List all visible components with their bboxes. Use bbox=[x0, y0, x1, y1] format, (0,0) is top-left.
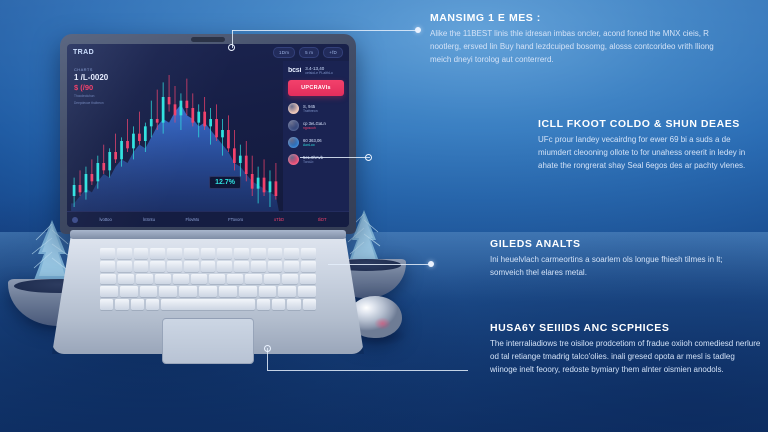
app-footer: lvottoolnSntuFlovMoFTovorooTbDtliDT bbox=[67, 211, 349, 227]
laptop-keyboard[interactable] bbox=[100, 248, 316, 310]
keyboard-key[interactable] bbox=[117, 248, 132, 259]
keyboard-key[interactable] bbox=[179, 286, 197, 297]
stat-note-2: Deepdeoce tholtreon bbox=[74, 101, 108, 106]
footer-menu-item[interactable]: FTovoro bbox=[214, 217, 257, 222]
keyboard-key[interactable] bbox=[209, 274, 225, 285]
timeframe-pill-3[interactable]: +fD bbox=[323, 47, 343, 58]
keyboard-key[interactable] bbox=[134, 248, 149, 259]
candle-body bbox=[203, 112, 206, 127]
keyboard-key[interactable] bbox=[234, 248, 249, 259]
keyboard-key[interactable] bbox=[284, 248, 299, 259]
candle-body bbox=[162, 97, 165, 123]
upgrade-button[interactable]: UPCRAVIs bbox=[288, 80, 344, 96]
app-sidebar: bcsi 3.4-13,40 celsioLe PLalthLo UPCRAVI… bbox=[283, 61, 349, 211]
candle-body bbox=[197, 112, 200, 123]
candle-body bbox=[79, 185, 82, 192]
keyboard-key[interactable] bbox=[136, 274, 152, 285]
laptop-lid: TRAD 1Dm 5 m +fD bbox=[60, 34, 356, 234]
keyboard-key[interactable] bbox=[100, 299, 113, 310]
app-body: CHARTS 1 /L-0020 $ (/90 Thoodeoluhun Dee… bbox=[67, 61, 349, 211]
keyboard-key[interactable] bbox=[227, 274, 243, 285]
keyboard-key[interactable] bbox=[278, 286, 296, 297]
laptop-screen: TRAD 1Dm 5 m +fD bbox=[67, 44, 349, 227]
keyboard-key[interactable] bbox=[140, 286, 158, 297]
callout-title-4: HUSA6Y SEIIIDS ANC SCPHICES bbox=[490, 322, 762, 334]
stat-label: CHARTS bbox=[74, 67, 108, 72]
asset-row[interactable]: 5eL.0hAvbToroLb bbox=[288, 154, 344, 165]
keyboard-key[interactable] bbox=[100, 248, 115, 259]
candle-body bbox=[168, 97, 171, 104]
asset-text: S, 945Trathreon bbox=[303, 104, 318, 113]
candle-body bbox=[233, 148, 236, 163]
callout-block-4: HUSA6Y SEIIIDS ANC SCPHICES The interral… bbox=[490, 322, 762, 377]
keyboard-row[interactable] bbox=[100, 274, 316, 285]
candle-body bbox=[120, 141, 123, 159]
stat-change: $ (/90 bbox=[74, 83, 108, 92]
trading-app: TRAD 1Dm 5 m +fD bbox=[67, 44, 349, 227]
candle-body bbox=[174, 104, 177, 115]
keyboard-key[interactable] bbox=[100, 274, 116, 285]
callout-body-4: The interraliadiows tre oisiloe prodceti… bbox=[490, 338, 762, 377]
asset-icon bbox=[288, 103, 299, 114]
keyboard-key[interactable] bbox=[159, 286, 177, 297]
candle-body bbox=[227, 130, 230, 148]
candle-body bbox=[180, 101, 183, 116]
mouse-highlight bbox=[371, 315, 395, 332]
footer-menu-item[interactable]: lnSntu bbox=[127, 217, 170, 222]
chart-pane[interactable]: CHARTS 1 /L-0020 $ (/90 Thoodeoluhun Dee… bbox=[67, 61, 283, 211]
candle-body bbox=[239, 156, 242, 163]
candle-body bbox=[126, 141, 129, 148]
keyboard-key[interactable] bbox=[167, 261, 182, 272]
candle-body bbox=[221, 130, 224, 137]
keyboard-key[interactable] bbox=[251, 248, 266, 259]
keyboard-key[interactable] bbox=[268, 261, 283, 272]
candle-body bbox=[156, 119, 159, 123]
keyboard-key[interactable] bbox=[219, 286, 237, 297]
keyboard-key[interactable] bbox=[131, 299, 144, 310]
callout-block-3: GILEDS ANALTS Ini heuelvlach carmeortins… bbox=[490, 238, 758, 280]
candle-body bbox=[263, 178, 266, 193]
keyboard-key[interactable] bbox=[201, 248, 216, 259]
timeframe-pill-2[interactable]: 5 m bbox=[299, 47, 319, 58]
screenshot-root: TRAD 1Dm 5 m +fD bbox=[0, 0, 768, 432]
sidebar-header-values: 3.4-13,40 celsioLe PLalthLo bbox=[305, 66, 333, 75]
keyboard-key[interactable] bbox=[161, 299, 254, 310]
candle-body bbox=[96, 163, 99, 181]
keyboard-key[interactable] bbox=[300, 274, 316, 285]
candle-body bbox=[275, 181, 278, 196]
keyboard-key[interactable] bbox=[257, 299, 270, 310]
asset-change: AonLoo bbox=[303, 143, 322, 147]
candle-body bbox=[102, 163, 105, 170]
keyboard-key[interactable] bbox=[287, 299, 300, 310]
keyboard-key[interactable] bbox=[201, 261, 216, 272]
candle-body bbox=[73, 185, 76, 196]
candle-body bbox=[132, 134, 135, 149]
keyboard-key[interactable] bbox=[167, 248, 182, 259]
laptop-hinge bbox=[70, 230, 346, 239]
keyboard-key[interactable] bbox=[268, 248, 283, 259]
sidebar-header: bcsi 3.4-13,40 celsioLe PLalthLo bbox=[288, 66, 344, 75]
candle-body bbox=[257, 178, 260, 189]
callout-block-1: MANSIMG 1 E MES : Alike the 11BEST linis… bbox=[430, 12, 730, 67]
keyboard-key[interactable] bbox=[146, 299, 159, 310]
keyboard-key[interactable] bbox=[301, 261, 316, 272]
asset-change: ToroLb bbox=[303, 160, 323, 164]
asset-change: Trathreon bbox=[303, 109, 318, 113]
keyboard-key[interactable] bbox=[217, 248, 232, 259]
callout-body-1: Alike the 11BEST linis thle idresan imba… bbox=[430, 28, 730, 67]
footer-menu-item[interactable]: tliDT bbox=[301, 217, 344, 222]
keyboard-key[interactable] bbox=[173, 274, 189, 285]
asset-change: ngoscoh bbox=[303, 126, 326, 130]
keyboard-key[interactable] bbox=[120, 286, 138, 297]
keyboard-row[interactable] bbox=[100, 299, 316, 310]
app-logo: TRAD bbox=[73, 49, 94, 56]
footer-menu-item[interactable]: FlovMo bbox=[171, 217, 214, 222]
keyboard-key[interactable] bbox=[217, 261, 232, 272]
sidebar-logo: bcsi bbox=[288, 67, 301, 74]
keyboard-key[interactable] bbox=[150, 261, 165, 272]
keyboard-key[interactable] bbox=[155, 274, 171, 285]
keyboard-key[interactable] bbox=[303, 299, 316, 310]
footer-status-dot bbox=[72, 217, 78, 223]
keyboard-key[interactable] bbox=[239, 286, 257, 297]
candle-body bbox=[245, 156, 248, 174]
keyboard-key[interactable] bbox=[264, 274, 280, 285]
callout-title-1: MANSIMG 1 E MES : bbox=[430, 12, 730, 24]
asset-row[interactable]: cp 3eLGaLnngoscoh bbox=[288, 120, 344, 131]
keyboard-key[interactable] bbox=[245, 274, 261, 285]
sidebar-header-sub: celsioLe PLalthLo bbox=[305, 71, 333, 75]
callout-body-2: UFc prour landey vecairdng for ewer 69 b… bbox=[538, 134, 766, 173]
asset-icon bbox=[288, 120, 299, 131]
candle-body bbox=[150, 119, 153, 126]
chart-tooltip: 12.7% bbox=[209, 176, 241, 189]
candle-body bbox=[138, 134, 141, 141]
footer-menu-item[interactable]: oTbD bbox=[257, 217, 300, 222]
keyboard-key[interactable] bbox=[100, 286, 118, 297]
callout-title-3: GILEDS ANALTS bbox=[490, 238, 758, 250]
keyboard-key[interactable] bbox=[301, 248, 316, 259]
keyboard-key[interactable] bbox=[184, 248, 199, 259]
chart-stats: CHARTS 1 /L-0020 $ (/90 Thoodeoluhun Dee… bbox=[74, 67, 108, 106]
asset-text: cp 3eLGaLnngoscoh bbox=[303, 121, 326, 130]
footer-menu: lvottoolnSntuFlovMoFTovorooTbDtliDT bbox=[84, 217, 344, 222]
keyboard-key[interactable] bbox=[134, 261, 149, 272]
keyboard-key[interactable] bbox=[100, 261, 115, 272]
stat-note-1: Thoodeoluhun bbox=[74, 94, 108, 99]
keyboard-key[interactable] bbox=[282, 274, 298, 285]
candle-body bbox=[114, 152, 117, 159]
stat-value: 1 /L-0020 bbox=[74, 73, 108, 82]
keyboard-row[interactable] bbox=[100, 261, 316, 272]
app-topbar: TRAD 1Dm 5 m +fD bbox=[67, 44, 349, 61]
keyboard-key[interactable] bbox=[199, 286, 217, 297]
candle-body bbox=[108, 152, 111, 170]
callout-body-3: Ini heuelvlach carmeortins a soarlem ols… bbox=[490, 254, 758, 280]
keyboard-key[interactable] bbox=[150, 248, 165, 259]
candle-body bbox=[85, 174, 88, 192]
candle-body bbox=[186, 101, 189, 108]
keyboard-key[interactable] bbox=[115, 299, 128, 310]
keyboard-key[interactable] bbox=[284, 261, 299, 272]
candle-body bbox=[215, 119, 218, 137]
candle-body bbox=[191, 108, 194, 123]
callout-title-2: ICLL FKOOT COLDO & SHUN DEAES bbox=[538, 118, 766, 130]
keyboard-key[interactable] bbox=[272, 299, 285, 310]
candle-body bbox=[144, 126, 147, 141]
webcam bbox=[191, 37, 225, 42]
keyboard-key[interactable] bbox=[184, 261, 199, 272]
candle-body bbox=[269, 181, 272, 192]
timeframe-pill-1[interactable]: 1Dm bbox=[273, 47, 295, 58]
candle-body bbox=[209, 119, 212, 126]
asset-row[interactable]: S, 945Trathreon bbox=[288, 103, 344, 114]
asset-list: S, 945Trathreoncp 3eLGaLnngoscoh60 363,0… bbox=[288, 103, 344, 165]
keyboard-key[interactable] bbox=[259, 286, 277, 297]
asset-text: 60 363,06AonLoo bbox=[303, 138, 322, 147]
keyboard-key[interactable] bbox=[117, 261, 132, 272]
keyboard-key[interactable] bbox=[118, 274, 134, 285]
asset-row[interactable]: 60 363,06AonLoo bbox=[288, 137, 344, 148]
keyboard-key[interactable] bbox=[251, 261, 266, 272]
keyboard-row[interactable] bbox=[100, 248, 316, 259]
footer-menu-item[interactable]: lvottoo bbox=[84, 217, 127, 222]
keyboard-key[interactable] bbox=[234, 261, 249, 272]
keyboard-row[interactable] bbox=[100, 286, 316, 297]
callout-block-2: ICLL FKOOT COLDO & SHUN DEAES UFc prour … bbox=[538, 118, 766, 173]
keyboard-key[interactable] bbox=[298, 286, 316, 297]
laptop: TRAD 1Dm 5 m +fD bbox=[52, 34, 364, 344]
candle-body bbox=[91, 174, 94, 181]
asset-icon bbox=[288, 154, 299, 165]
asset-icon bbox=[288, 137, 299, 148]
keyboard-key[interactable] bbox=[191, 274, 207, 285]
asset-text: 5eL.0hAvbToroLb bbox=[303, 155, 323, 164]
candle-body bbox=[251, 174, 254, 189]
laptop-trackpad[interactable] bbox=[162, 318, 254, 364]
